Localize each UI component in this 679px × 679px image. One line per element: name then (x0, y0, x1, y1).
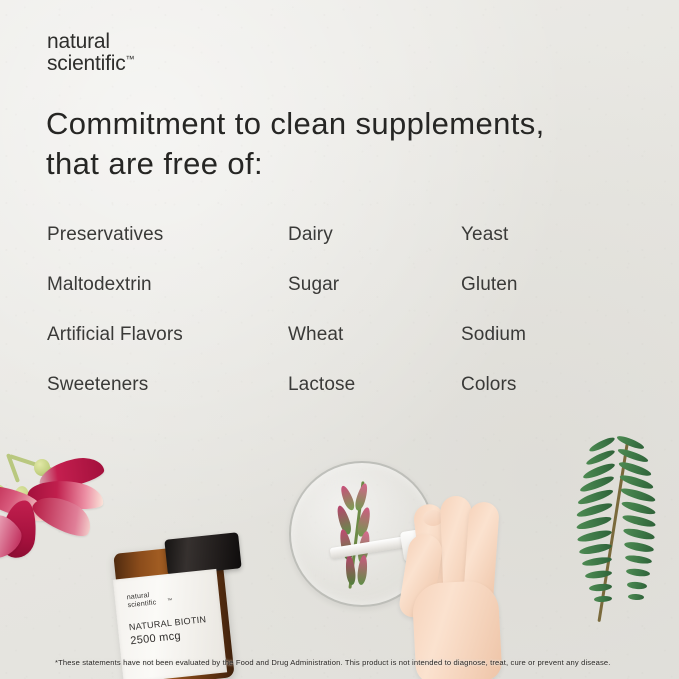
fern-leaflet (622, 513, 657, 529)
free-of-column-1: Preservatives Maltodextrin Artificial Fl… (47, 222, 288, 422)
list-item: Wheat (288, 322, 461, 372)
list-item: Sugar (288, 272, 461, 322)
bottle-product-name: NATURAL BIOTIN (128, 614, 206, 632)
list-item: Maltodextrin (47, 272, 288, 322)
page-title-line2: that are free of: (46, 144, 646, 184)
list-item: Gluten (461, 272, 637, 322)
fern-leaflet (628, 594, 644, 601)
gloriosa-flower (0, 444, 122, 564)
list-item: Lactose (288, 372, 461, 422)
fern-leaflet (585, 569, 613, 579)
bottle-strength: 2500 mcg (130, 630, 182, 647)
free-of-list: Preservatives Maltodextrin Artificial Fl… (47, 222, 637, 422)
fern-leaflet (623, 527, 656, 542)
list-item: Artificial Flavors (47, 322, 288, 372)
free-of-column-2: Dairy Sugar Wheat Lactose (288, 222, 461, 422)
fern-leaflet (626, 568, 651, 578)
fern-leaflet (624, 540, 655, 554)
fern-leaflet (621, 499, 657, 516)
list-item: Sweeteners (47, 372, 288, 422)
brand-logo: natural scientific™ (47, 31, 135, 74)
fern-frond (560, 429, 670, 634)
list-item: Dairy (288, 222, 461, 272)
infographic-page: natural scientific™ Commitment to clean … (0, 0, 679, 679)
page-title: Commitment to clean supplements, that ar… (46, 104, 646, 183)
list-item: Preservatives (47, 222, 288, 272)
fern-leaflet (594, 596, 612, 603)
page-title-line1: Commitment to clean supplements, (46, 104, 646, 144)
fda-disclaimer: *These statements have not been evaluate… (55, 658, 635, 667)
list-item: Colors (461, 372, 637, 422)
bottle-brand-line2: scientific (127, 599, 156, 609)
trademark-symbol: ™ (126, 54, 135, 64)
brand-logo-line2: scientific™ (47, 53, 135, 75)
list-item: Yeast (461, 222, 637, 272)
brand-logo-line1: natural (47, 31, 135, 53)
fern-leaflet (589, 583, 613, 592)
list-item: Sodium (461, 322, 637, 372)
brand-logo-line2-text: scientific (47, 52, 126, 75)
free-of-column-3: Yeast Gluten Sodium Colors (461, 222, 637, 422)
fern-leaflet (625, 554, 653, 565)
fern-leaflet (577, 528, 613, 544)
product-photo-band: natural scientific ™ NATURAL BIOTIN 2500… (0, 434, 679, 679)
fern-leaflet (627, 581, 648, 590)
bottle-brand-tm: ™ (167, 598, 173, 604)
fern-leaflet (576, 514, 613, 531)
hand-holding-dropper (392, 504, 527, 679)
